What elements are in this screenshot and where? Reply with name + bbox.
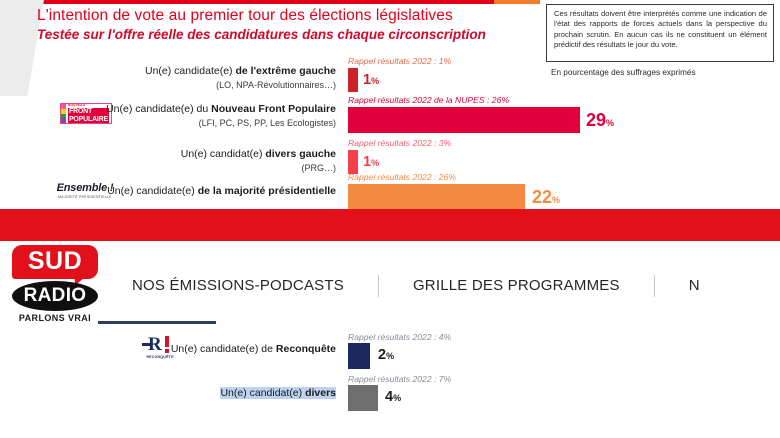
row-label-main: Un(e) candidate(e) de xyxy=(171,343,276,355)
nfp-logo-text: NOUVEAU FRONT POPULAIRE xyxy=(66,104,111,123)
value-extreme-gauche: 1% xyxy=(363,72,379,88)
value-unit: % xyxy=(552,195,560,205)
sud-radio-line2: RADIO xyxy=(12,285,98,306)
top-accent-red-line xyxy=(32,0,494,4)
row-label-bold: de l'extrême gauche xyxy=(235,65,336,77)
row-label-divers: Un(e) candidat(e) divers xyxy=(136,386,336,400)
row-label-selected-text: Un(e) candidat(e) divers xyxy=(220,387,336,399)
nouveau-front-populaire-logo: NOUVEAU FRONT POPULAIRE xyxy=(60,103,112,124)
row-label-extreme-gauche: Un(e) candidate(e) de l'extrême gauche (… xyxy=(76,64,336,92)
nav-active-underline xyxy=(98,321,216,324)
bar-row-extreme-gauche: Un(e) candidate(e) de l'extrême gauche (… xyxy=(0,56,780,92)
page-subtitle: Testée sur l'offre réelle des candidatur… xyxy=(37,26,537,44)
page-title: L'intention de vote au premier tour des … xyxy=(37,6,537,26)
row-label-bold: divers gauche xyxy=(265,148,336,160)
recall-nfp: Rappel résultats 2022 de la NUPES : 26% xyxy=(348,95,509,105)
bar-extreme-gauche xyxy=(348,68,358,92)
value-divers: 4% xyxy=(385,389,401,405)
sud-radio-bottom-badge: RADIO xyxy=(12,281,98,311)
recall-majorite: Rappel résultats 2022 : 26% xyxy=(348,172,456,182)
top-accent-orange-line xyxy=(494,0,540,4)
value-number: 22 xyxy=(532,187,552,207)
page-title-block: L'intention de vote au premier tour des … xyxy=(37,6,537,44)
recall-divers: Rappel résultats 2022 : 7% xyxy=(348,374,451,384)
value-nfp: 29% xyxy=(586,110,614,131)
site-navigation-overlay: NOS ÉMISSIONS-PODCASTS GRILLE DES PROGRA… xyxy=(98,241,780,331)
nav-item-grille-des-programmes[interactable]: GRILLE DES PROGRAMMES xyxy=(379,276,654,296)
value-unit: % xyxy=(393,393,401,403)
bar-row-reconquete: R RECONQUÊTE Un(e) candidate(e) de Recon… xyxy=(0,332,780,370)
red-divider-band xyxy=(0,209,780,241)
nfp-line1: FRONT xyxy=(68,108,109,116)
nav-item-emissions-podcasts[interactable]: NOS ÉMISSIONS-PODCASTS xyxy=(98,276,378,296)
row-label-main: Un(e) candidat(e) xyxy=(181,148,266,160)
value-number: 1 xyxy=(363,72,371,88)
bar-reconquete xyxy=(348,343,370,369)
sud-radio-top-badge: SUD xyxy=(12,245,98,279)
row-label-bold: Reconquête xyxy=(276,343,336,355)
value-number: 1 xyxy=(363,154,371,170)
nav-item-truncated[interactable]: N xyxy=(655,276,734,296)
row-label-reconquete: Un(e) candidate(e) de Reconquête xyxy=(166,342,336,356)
row-label-bold: Nouveau Front Populaire xyxy=(211,103,336,115)
row-label-sub: (LO, NPA-Révolutionnaires…) xyxy=(216,80,336,90)
value-reconquete: 2% xyxy=(378,347,394,363)
value-unit: % xyxy=(371,76,379,86)
value-unit: % xyxy=(606,118,614,128)
value-unit: % xyxy=(371,158,379,168)
nfp-line2: POPULAIRE xyxy=(68,116,109,124)
bar-divers xyxy=(348,385,378,411)
value-number: 2 xyxy=(378,347,386,363)
value-number: 4 xyxy=(385,389,393,405)
row-label-bold: divers xyxy=(305,387,336,399)
value-divers-gauche: 1% xyxy=(363,154,379,170)
bar-row-nouveau-front-populaire: NOUVEAU FRONT POPULAIRE Un(e) candidate(… xyxy=(0,95,780,133)
methodology-note-text: Ces résultats doivent être interprétés c… xyxy=(554,9,767,51)
row-label-divers-gauche: Un(e) candidat(e) divers gauche (PRG…) xyxy=(76,147,336,175)
value-majorite: 22% xyxy=(532,187,560,208)
bar-row-divers: Un(e) candidat(e) divers Rappel résultat… xyxy=(0,374,780,412)
sud-radio-line1: SUD xyxy=(12,248,98,275)
value-number: 29 xyxy=(586,110,606,130)
bar-majorite xyxy=(348,184,525,210)
value-unit: % xyxy=(386,351,394,361)
bar-row-divers-gauche: Un(e) candidat(e) divers gauche (PRG…) R… xyxy=(0,140,780,176)
row-label-sub: (LFI, PC, PS, PP, Les Ecologistes) xyxy=(199,118,336,128)
recall-divers-gauche: Rappel résultats 2022 : 3% xyxy=(348,138,451,148)
recall-extreme-gauche: Rappel résultats 2022 : 1% xyxy=(348,56,451,66)
bar-nfp xyxy=(348,107,580,133)
row-label-main: Un(e) candidat(e) xyxy=(220,387,305,399)
row-label-main: Un(e) candidate(e) xyxy=(145,65,235,77)
sud-radio-claim: PARLONS VRAI xyxy=(12,313,98,323)
row-label-majorite: Un(e) candidate(e) de la majorité présid… xyxy=(106,184,336,198)
bar-row-majorite-presidentielle: Ensemble ! MAJORITÉ PRÉSIDENTIELLE Un(e)… xyxy=(0,172,780,210)
reconquete-letter: R xyxy=(148,335,162,354)
row-label-bold: de la majorité présidentielle xyxy=(198,185,336,197)
row-label-main: Un(e) candidate(e) du xyxy=(106,103,211,115)
bar-divers-gauche xyxy=(348,150,358,174)
methodology-note-box: Ces résultats doivent être interprétés c… xyxy=(546,4,774,62)
recall-reconquete: Rappel résultats 2022 : 4% xyxy=(348,332,451,342)
nav-items-list: NOS ÉMISSIONS-PODCASTS GRILLE DES PROGRA… xyxy=(98,268,734,304)
sud-radio-logo[interactable]: SUD RADIO PARLONS VRAI xyxy=(12,245,98,325)
row-label-nfp: Un(e) candidate(e) du Nouveau Front Popu… xyxy=(106,102,336,130)
row-label-main: Un(e) candidate(e) xyxy=(107,185,197,197)
poll-infographic-page: L'intention de vote au premier tour des … xyxy=(0,0,780,438)
